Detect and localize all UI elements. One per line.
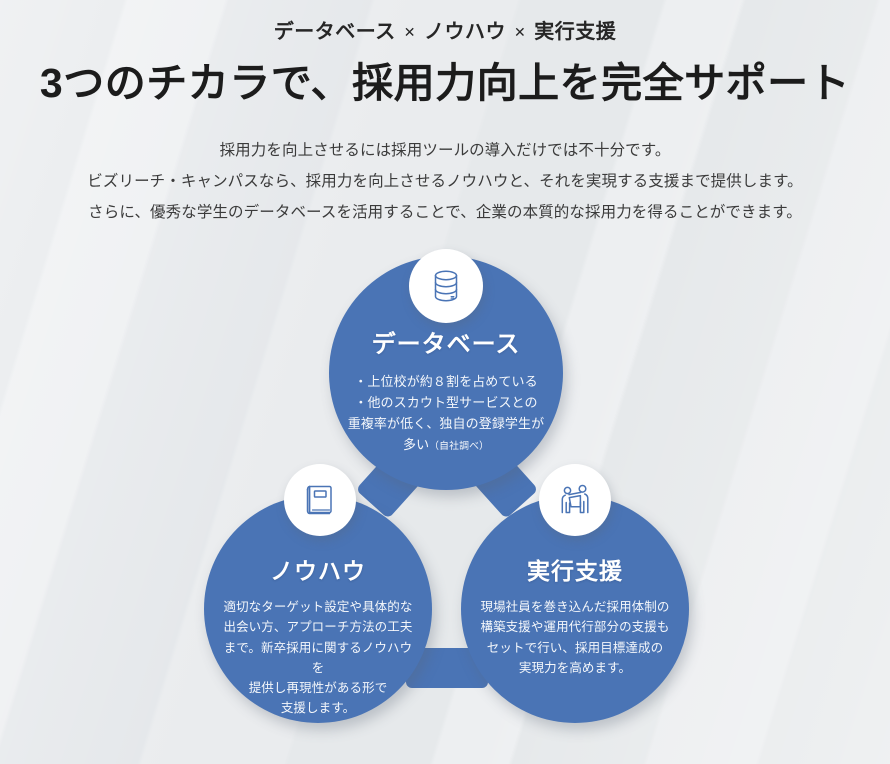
- pillar-body-line: 適切なターゲット設定や具体的な: [220, 597, 416, 617]
- pillar-body-knowhow: 適切なターゲット設定や具体的な 出会い方、アプローチ方法の工夫 まで。新卒採用に…: [204, 597, 432, 719]
- pillar-body-line-text: 多い: [403, 437, 429, 452]
- database-icon-badge: [409, 249, 483, 323]
- pillar-body-line: 多い（自社調べ）: [343, 434, 549, 455]
- pillar-body-line: 提供し再現性がある形で: [220, 678, 416, 698]
- lede-paragraph: 採用力を向上させるには採用ツールの導入だけでは不十分です。 ビズリーチ・キャンパ…: [0, 135, 890, 228]
- pillar-body-line: ・他のスカウト型サービスとの: [343, 392, 549, 413]
- pillar-title-database: データベース: [329, 324, 563, 359]
- pillar-title-support: 実行支援: [461, 552, 689, 586]
- pillar-body-line: 支援します。: [220, 698, 416, 718]
- eyebrow-part-1: データベース: [274, 21, 396, 43]
- pillar-body-support: 現場社員を巻き込んだ採用体制の 構築支援や運用代行部分の支援も セットで行い、採…: [461, 597, 689, 678]
- pillar-body-line: ・上位校が約８割を占めている: [343, 371, 549, 392]
- pillar-body-line: まで。新卒採用に関するノウハウを: [220, 638, 416, 679]
- pillar-body-line: 構築支援や運用代行部分の支援も: [479, 617, 671, 637]
- pillar-body-line: セットで行い、採用目標達成の: [479, 638, 671, 658]
- people-support-icon: [556, 481, 594, 519]
- eyebrow-separator-2: ✕: [506, 24, 534, 40]
- pillar-body-line: 出会い方、アプローチ方法の工夫: [220, 617, 416, 637]
- pillar-title-knowhow: ノウハウ: [204, 552, 432, 586]
- page-header: データベース✕ノウハウ✕実行支援 3つのチカラで、採用力向上を完全サポート 採用…: [0, 0, 890, 228]
- lede-line: ビズリーチ・キャンパスなら、採用力を向上させるノウハウと、それを実現する支援まで…: [0, 166, 890, 197]
- page-title: 3つのチカラで、採用力向上を完全サポート: [0, 58, 890, 109]
- pillar-body-database: ・上位校が約８割を占めている ・他のスカウト型サービスとの 重複率が低く、独自の…: [329, 371, 563, 455]
- pillar-body-line: 現場社員を巻き込んだ採用体制の: [479, 597, 671, 617]
- lede-line: 採用力を向上させるには採用ツールの導入だけでは不十分です。: [0, 135, 890, 166]
- eyebrow-part-3: 実行支援: [534, 21, 616, 43]
- pillar-body-line: 実現力を高めます。: [479, 658, 671, 678]
- eyebrow-separator-1: ✕: [396, 24, 424, 40]
- pillar-body-line: 重複率が低く、独自の登録学生が: [343, 413, 549, 434]
- book-icon: [301, 481, 339, 519]
- people-support-icon-badge: [539, 464, 611, 536]
- lede-line: さらに、優秀な学生のデータベースを活用することで、企業の本質的な採用力を得ること…: [0, 197, 890, 228]
- eyebrow-part-2: ノウハウ: [424, 21, 506, 43]
- pillar-body-note: （自社調べ）: [429, 441, 489, 452]
- eyebrow-tagline: データベース✕ノウハウ✕実行支援: [0, 18, 890, 46]
- book-icon-badge: [284, 464, 356, 536]
- database-icon: [426, 266, 466, 306]
